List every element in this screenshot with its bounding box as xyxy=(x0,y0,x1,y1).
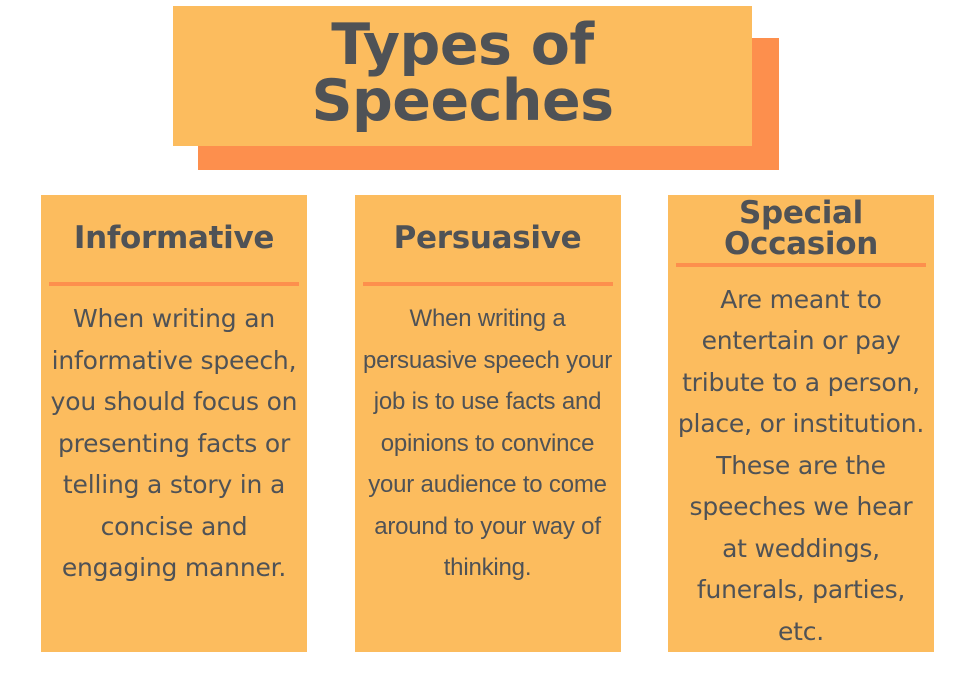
title-block: Types of Speeches xyxy=(0,0,975,180)
card-special-occasion: Special Occasion Are meant to entertain … xyxy=(668,195,934,652)
card-heading-special-occasion: Special Occasion xyxy=(674,195,928,263)
page-title: Types of Speeches xyxy=(311,18,613,134)
card-heading-persuasive: Persuasive xyxy=(361,195,615,282)
card-body-special-occasion: Are meant to entertain or pay tribute to… xyxy=(674,267,928,653)
title-card: Types of Speeches xyxy=(173,6,752,146)
columns-container: Informative When writing an informative … xyxy=(41,195,934,652)
card-body-persuasive: When writing a persuasive speech your jo… xyxy=(361,286,615,652)
card-body-informative: When writing an informative speech, you … xyxy=(47,286,301,652)
infographic-root: Types of Speeches Informative When writi… xyxy=(0,0,975,692)
card-persuasive: Persuasive When writing a persuasive spe… xyxy=(355,195,621,652)
card-informative: Informative When writing an informative … xyxy=(41,195,307,652)
card-heading-informative: Informative xyxy=(47,195,301,282)
